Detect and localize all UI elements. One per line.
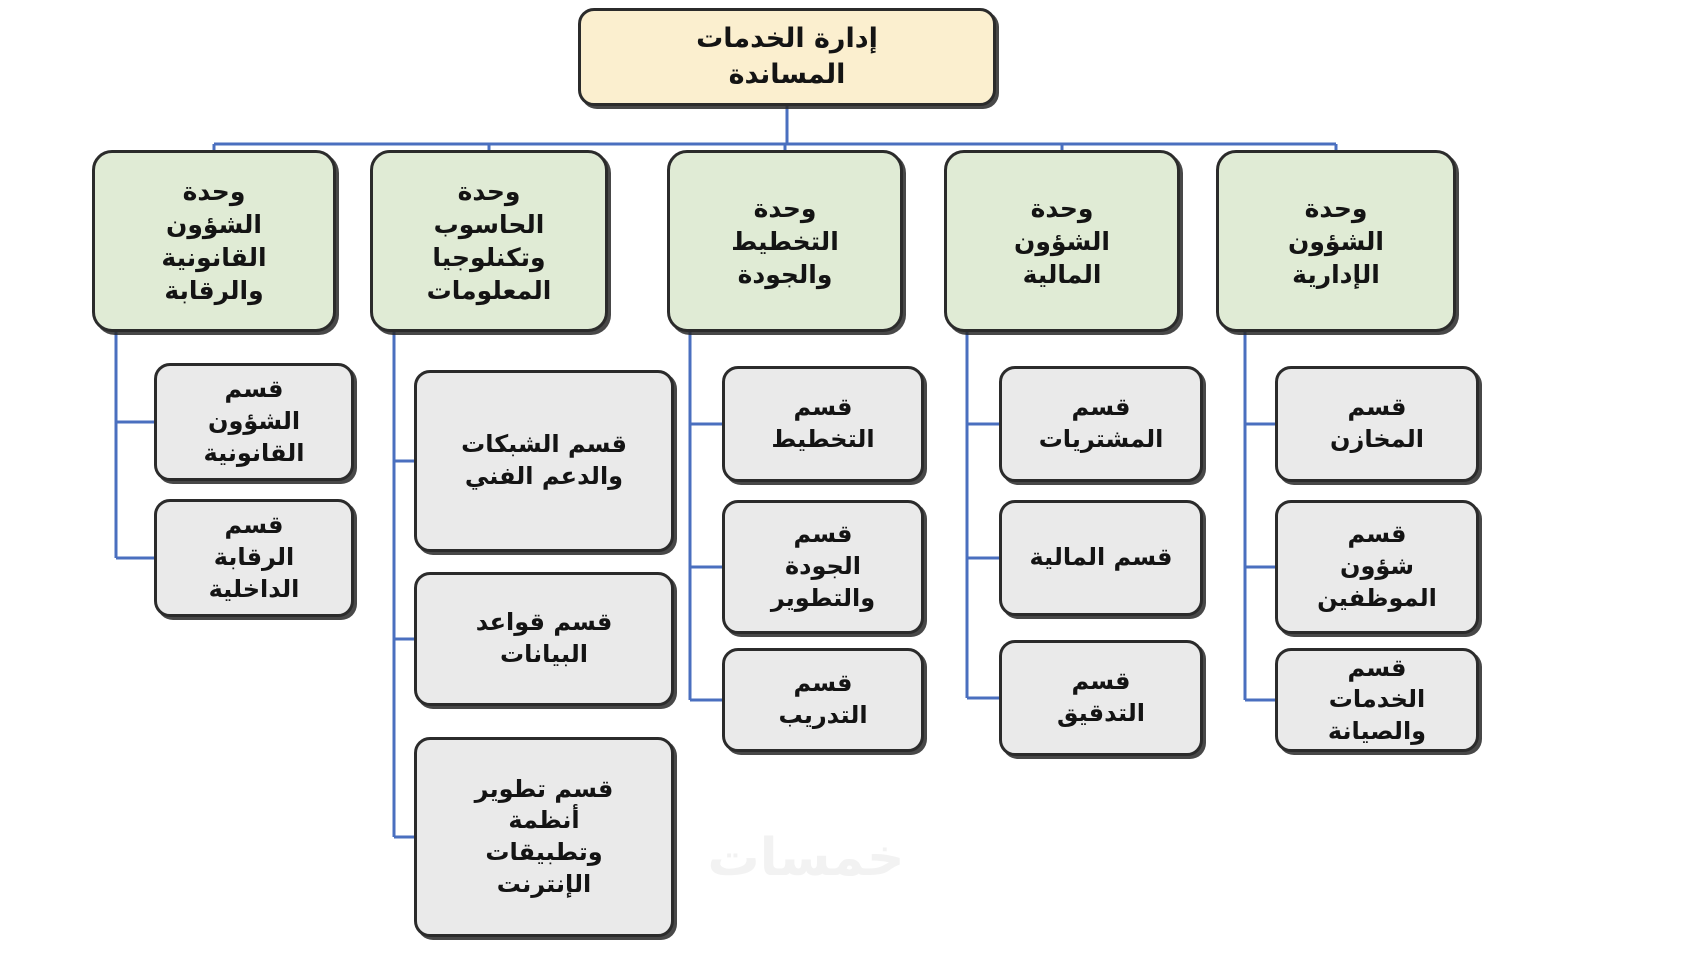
- dept-node-4-1[interactable]: قسمالمشتريات: [999, 366, 1203, 482]
- dept-node-3-2-label: قسمالجودةوالتطوير: [771, 519, 875, 614]
- unit-node-2[interactable]: وحدةالحاسوبوتكنلوجياالمعلومات: [370, 150, 608, 332]
- dept-node-4-2-label: قسم المالية: [1030, 542, 1173, 574]
- root-node-label: إدارة الخدماتالمساندة: [696, 21, 878, 92]
- dept-node-3-2[interactable]: قسمالجودةوالتطوير: [722, 500, 924, 634]
- unit-node-5-label: وحدةالشؤونالإدارية: [1288, 192, 1384, 291]
- unit-node-3[interactable]: وحدةالتخطيطوالجودة: [667, 150, 903, 332]
- dept-node-1-1[interactable]: قسمالشؤونالقانونية: [154, 363, 354, 481]
- unit-node-3-label: وحدةالتخطيطوالجودة: [731, 192, 839, 291]
- dept-node-5-1-label: قسمالمخازن: [1330, 392, 1424, 455]
- dept-node-4-1-label: قسمالمشتريات: [1039, 392, 1164, 455]
- dept-node-2-1[interactable]: قسم الشبكاتوالدعم الفني: [414, 370, 674, 552]
- dept-node-1-1-label: قسمالشؤونالقانونية: [204, 374, 305, 469]
- unit-node-4-label: وحدةالشؤونالمالية: [1014, 192, 1110, 291]
- unit-node-5[interactable]: وحدةالشؤونالإدارية: [1216, 150, 1456, 332]
- dept-node-3-3-label: قسمالتدريب: [778, 668, 867, 731]
- dept-node-2-3[interactable]: قسم تطويرأنظمةوتطبيقاتالإنترنت: [414, 737, 674, 937]
- unit-node-1[interactable]: وحدةالشؤونالقانونيةوالرقابة: [92, 150, 336, 332]
- dept-node-5-2-label: قسمشؤونالموظفين: [1317, 519, 1437, 614]
- root-node[interactable]: إدارة الخدماتالمساندة: [578, 8, 996, 106]
- dept-node-2-3-label: قسم تطويرأنظمةوتطبيقاتالإنترنت: [475, 774, 614, 901]
- dept-node-4-3-label: قسمالتدقيق: [1057, 666, 1145, 729]
- dept-node-1-2-label: قسمالرقابةالداخلية: [209, 510, 300, 605]
- dept-node-5-3[interactable]: قسمالخدماتوالصيانة: [1275, 648, 1479, 752]
- unit-node-2-label: وحدةالحاسوبوتكنلوجياالمعلومات: [427, 175, 552, 307]
- dept-node-2-2-label: قسم قواعدالبيانات: [476, 607, 613, 670]
- dept-node-5-1[interactable]: قسمالمخازن: [1275, 366, 1479, 482]
- dept-node-1-2[interactable]: قسمالرقابةالداخلية: [154, 499, 354, 617]
- dept-node-3-3[interactable]: قسمالتدريب: [722, 648, 924, 752]
- dept-node-5-3-label: قسمالخدماتوالصيانة: [1328, 653, 1426, 748]
- unit-node-1-label: وحدةالشؤونالقانونيةوالرقابة: [161, 175, 266, 307]
- unit-node-4[interactable]: وحدةالشؤونالمالية: [944, 150, 1180, 332]
- dept-node-3-1[interactable]: قسمالتخطيط: [722, 366, 924, 482]
- dept-node-2-2[interactable]: قسم قواعدالبيانات: [414, 572, 674, 706]
- org-chart: إدارة الخدماتالمساندةوحدةالشؤونالقانونية…: [0, 0, 1700, 970]
- dept-node-4-3[interactable]: قسمالتدقيق: [999, 640, 1203, 756]
- dept-node-3-1-label: قسمالتخطيط: [771, 392, 874, 455]
- watermark: خمسات: [676, 828, 936, 888]
- connector-lines: [0, 0, 1700, 970]
- dept-node-2-1-label: قسم الشبكاتوالدعم الفني: [461, 429, 627, 492]
- dept-node-4-2[interactable]: قسم المالية: [999, 500, 1203, 616]
- dept-node-5-2[interactable]: قسمشؤونالموظفين: [1275, 500, 1479, 634]
